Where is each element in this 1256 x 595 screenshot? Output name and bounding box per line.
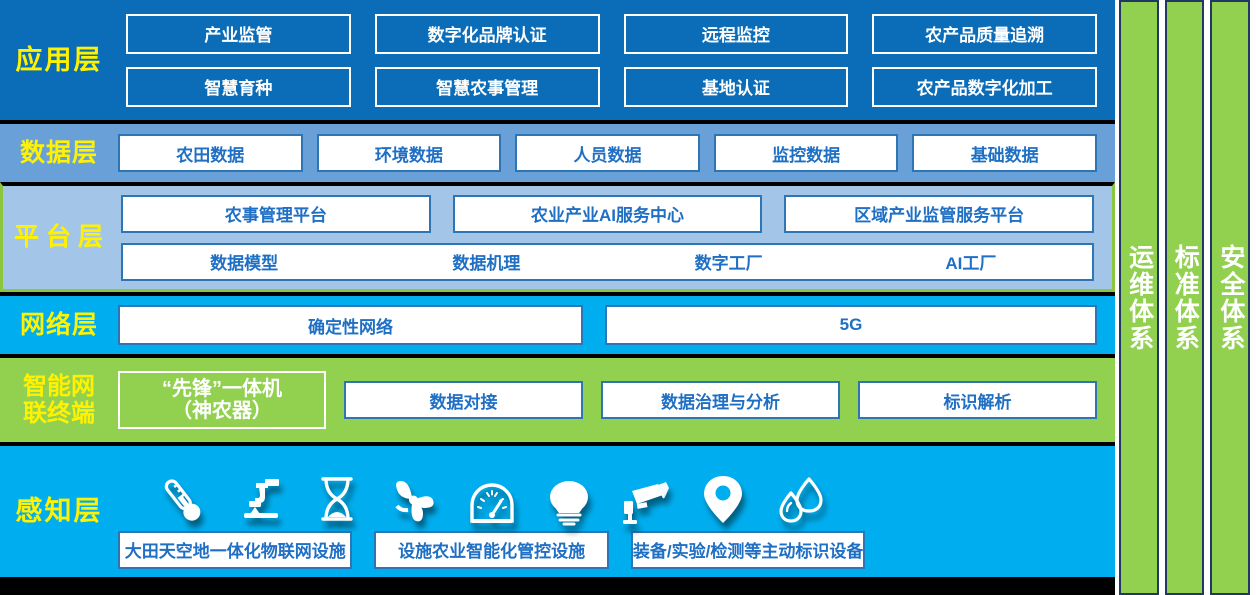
- data-box-personnel[interactable]: 人员数据: [515, 134, 700, 172]
- layer-perception: 感知层: [0, 442, 1115, 577]
- perception-box-active-identification[interactable]: 装备/实验/检测等主动标识设备: [631, 531, 865, 569]
- perception-icon-row: [118, 455, 865, 531]
- platform-bottom-row: 数据模型 数据机理 数字工厂 AI工厂: [121, 243, 1094, 281]
- layer-body-platform: 农事管理平台 农业产业AI服务中心 区域产业监管服务平台 数据模型 数据机理 数…: [121, 186, 1112, 289]
- fan-icon: [376, 475, 453, 527]
- layer-label-terminal-line1: 智能网: [0, 373, 118, 400]
- app-box-smart-farming-management[interactable]: 智慧农事管理: [375, 67, 600, 107]
- app-box-remote-monitoring[interactable]: 远程监控: [624, 14, 849, 54]
- water-faucet-icon: [221, 475, 298, 527]
- layer-application: 应用层 产业监管 数字化品牌认证 远程监控 农产品质量追溯 智慧育种 智慧农事管…: [0, 0, 1115, 120]
- platform-box-regional-supervision[interactable]: 区域产业监管服务平台: [784, 195, 1094, 233]
- perception-box-facility-control[interactable]: 设施农业智能化管控设施: [374, 531, 608, 569]
- layer-label-platform: 平台层: [3, 223, 121, 252]
- layer-label-application: 应用层: [0, 45, 118, 76]
- architecture-diagram: 应用层 产业监管 数字化品牌认证 远程监控 农产品质量追溯 智慧育种 智慧农事管…: [0, 0, 1256, 595]
- pillar-label-operations: 运维体系: [1125, 244, 1153, 352]
- application-box-grid: 产业监管 数字化品牌认证 远程监控 农产品质量追溯 智慧育种 智慧农事管理 基地…: [118, 14, 1115, 107]
- terminal-pioneer-line1: “先锋”一体机: [162, 378, 282, 400]
- pillar-operations-system[interactable]: 运维体系: [1119, 0, 1159, 595]
- app-box-base-certification[interactable]: 基地认证: [624, 67, 849, 107]
- thermometer-icon: [144, 473, 221, 527]
- terminal-box-row: “先锋”一体机 （神农器） 数据对接 数据治理与分析 标识解析: [118, 371, 1115, 429]
- terminal-box-data-docking[interactable]: 数据对接: [344, 381, 583, 419]
- platform-box-farming-management[interactable]: 农事管理平台: [121, 195, 431, 233]
- data-box-farmland[interactable]: 农田数据: [118, 134, 303, 172]
- terminal-pioneer-line2: （神农器）: [172, 400, 272, 422]
- pillar-standards-system[interactable]: 标准体系: [1165, 0, 1205, 595]
- layer-label-terminal: 智能网 联终端: [0, 373, 118, 428]
- app-box-smart-breeding[interactable]: 智慧育种: [126, 67, 351, 107]
- layer-body-terminal: “先锋”一体机 （神农器） 数据对接 数据治理与分析 标识解析: [118, 358, 1115, 442]
- platform-item-data-mechanism[interactable]: 数据机理: [365, 249, 607, 274]
- support-system-pillars: 运维体系 标准体系 安全体系: [1115, 0, 1256, 595]
- layer-data: 数据层 农田数据 环境数据 人员数据 监控数据 基础数据: [0, 120, 1115, 182]
- platform-item-digital-factory[interactable]: 数字工厂: [608, 249, 850, 274]
- platform-box-ai-service-center[interactable]: 农业产业AI服务中心: [453, 195, 763, 233]
- app-box-digital-brand-certification[interactable]: 数字化品牌认证: [375, 14, 600, 54]
- data-box-row: 农田数据 环境数据 人员数据 监控数据 基础数据: [118, 134, 1115, 172]
- layer-body-application: 产业监管 数字化品牌认证 远程监控 农产品质量追溯 智慧育种 智慧农事管理 基地…: [118, 0, 1115, 120]
- pillar-label-standards: 标准体系: [1171, 244, 1199, 352]
- light-bulb-icon: [530, 475, 607, 527]
- data-box-basic[interactable]: 基础数据: [912, 134, 1097, 172]
- terminal-box-data-governance-analysis[interactable]: 数据治理与分析: [601, 381, 840, 419]
- water-drops-icon: [762, 475, 839, 527]
- network-box-5g[interactable]: 5G: [605, 305, 1097, 345]
- perception-box-field-iot[interactable]: 大田天空地一体化物联网设施: [118, 531, 352, 569]
- pillar-label-security: 安全体系: [1216, 244, 1244, 352]
- layer-label-perception: 感知层: [0, 496, 118, 527]
- layer-body-perception: 大田天空地一体化物联网设施 设施农业智能化管控设施 装备/实验/检测等主动标识设…: [118, 446, 883, 577]
- layer-stack: 应用层 产业监管 数字化品牌认证 远程监控 农产品质量追溯 智慧育种 智慧农事管…: [0, 0, 1115, 595]
- terminal-box-identifier-resolution[interactable]: 标识解析: [858, 381, 1097, 419]
- platform-item-data-model[interactable]: 数据模型: [123, 249, 365, 274]
- data-box-monitoring[interactable]: 监控数据: [714, 134, 899, 172]
- platform-item-ai-factory[interactable]: AI工厂: [850, 249, 1092, 274]
- perception-label-row: 大田天空地一体化物联网设施 设施农业智能化管控设施 装备/实验/检测等主动标识设…: [118, 531, 865, 569]
- layer-label-data: 数据层: [0, 139, 118, 168]
- terminal-box-pioneer-machine[interactable]: “先锋”一体机 （神农器）: [118, 371, 326, 429]
- layer-network: 网络层 确定性网络 5G: [0, 292, 1115, 354]
- pillar-security-system[interactable]: 安全体系: [1210, 0, 1250, 595]
- layer-body-network: 确定性网络 5G: [118, 296, 1115, 354]
- app-box-product-digital-processing[interactable]: 农产品数字化加工: [872, 67, 1097, 107]
- layer-label-terminal-line2: 联终端: [0, 400, 118, 427]
- location-pin-icon: [685, 473, 762, 527]
- surveillance-camera-icon: [608, 477, 685, 527]
- data-box-environment[interactable]: 环境数据: [317, 134, 502, 172]
- app-box-industry-supervision[interactable]: 产业监管: [126, 14, 351, 54]
- app-box-product-quality-traceability[interactable]: 农产品质量追溯: [872, 14, 1097, 54]
- network-box-deterministic[interactable]: 确定性网络: [118, 305, 583, 345]
- network-box-row: 确定性网络 5G: [118, 305, 1115, 345]
- layer-body-data: 农田数据 环境数据 人员数据 监控数据 基础数据: [118, 124, 1115, 182]
- hourglass-sensor-icon: [299, 473, 376, 527]
- layer-terminal: 智能网 联终端 “先锋”一体机 （神农器） 数据对接 数据治理与分析 标识解析: [0, 354, 1115, 442]
- layer-label-network: 网络层: [0, 311, 118, 340]
- layer-platform: 平台层 农事管理平台 农业产业AI服务中心 区域产业监管服务平台 数据模型 数据…: [0, 182, 1115, 292]
- platform-top-row: 农事管理平台 农业产业AI服务中心 区域产业监管服务平台: [121, 195, 1112, 233]
- gauge-icon: [453, 479, 530, 527]
